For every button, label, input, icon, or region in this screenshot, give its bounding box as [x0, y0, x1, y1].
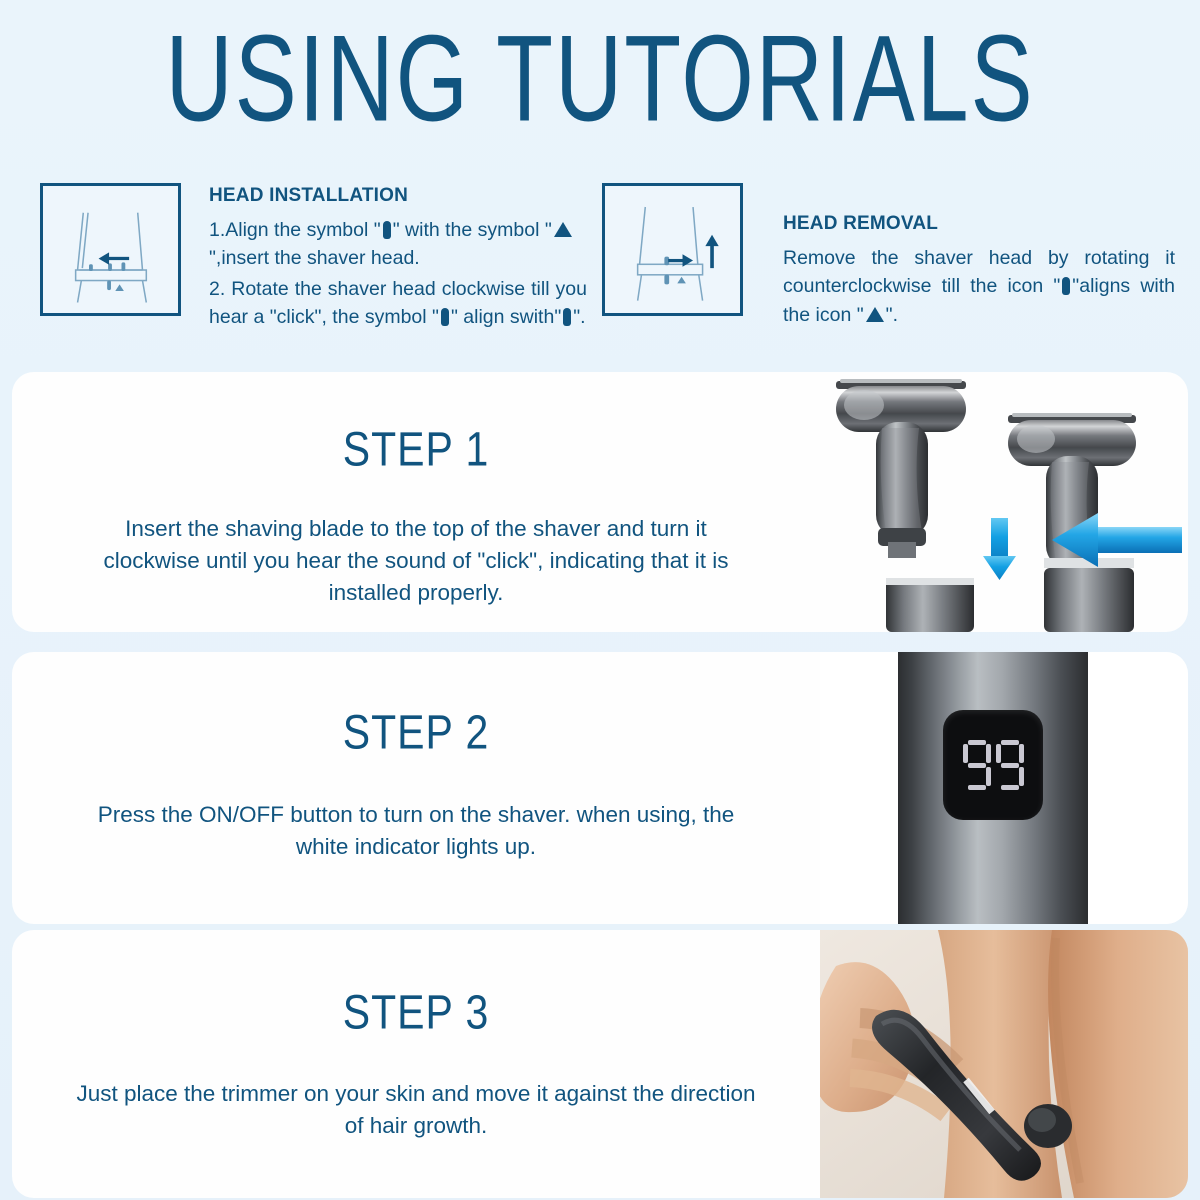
page-title: USING TUTORIALS	[165, 18, 1034, 141]
step-2-media	[820, 652, 1188, 924]
step-2-description: Press the ON/OFF button to turn on the s…	[76, 799, 756, 863]
triangle-symbol-icon	[866, 307, 884, 322]
head-removal-heading: HEAD REMOVAL	[783, 213, 1143, 235]
step-3-title: STEP 3	[343, 985, 490, 1040]
step-3-description: Just place the trimmer on your skin and …	[76, 1078, 756, 1142]
install-step2-part-b: " align swith"	[451, 306, 561, 328]
lcd-digit-1	[963, 740, 991, 790]
head-removal-section: HEAD REMOVAL Remove the shaver head by r…	[600, 183, 1200, 358]
bar-symbol-icon	[383, 221, 391, 239]
step-card-2: STEP 2 Press the ON/OFF button to turn o…	[12, 652, 1188, 924]
step-3-media	[820, 930, 1188, 1198]
head-installation-text: HEAD INSTALLATION 1.Align the symbol "" …	[181, 183, 587, 331]
tutorial-page: USING TUTORIALS	[0, 0, 1200, 1200]
step-2-text: STEP 2 Press the ON/OFF button to turn o…	[12, 652, 820, 924]
install-step1-part-b: " with the symbol "	[393, 219, 552, 241]
shaver-head-attach-illustration	[820, 372, 1188, 632]
removal-part-c: ".	[886, 304, 898, 326]
down-arrow-icon	[983, 518, 1016, 580]
head-removal-body: Remove the shaver head by rotating it co…	[783, 244, 1175, 329]
head-installation-section: HEAD INSTALLATION 1.Align the symbol "" …	[0, 183, 600, 358]
head-installation-step-2: 2. Rotate the shaver head clockwise till…	[209, 275, 587, 332]
lcd-digit-2	[996, 740, 1024, 790]
bar-symbol-icon	[563, 308, 571, 326]
head-installation-heading: HEAD INSTALLATION	[209, 185, 587, 207]
install-step2-part-c: ".	[573, 306, 585, 328]
step-2-title: STEP 2	[343, 705, 490, 760]
info-row: HEAD INSTALLATION 1.Align the symbol "" …	[0, 183, 1200, 358]
step-1-text: STEP 1 Insert the shaving blade to the t…	[12, 372, 820, 632]
bar-symbol-icon	[441, 308, 449, 326]
shaver-in-use-on-leg-photo	[820, 930, 1188, 1198]
step-1-media	[820, 372, 1188, 632]
page-title-wrap: USING TUTORIALS	[0, 0, 1200, 114]
step-card-1: STEP 1 Insert the shaving blade to the t…	[12, 372, 1188, 632]
head-installation-step-1: 1.Align the symbol "" with the symbol ""…	[209, 216, 587, 273]
step-card-3: STEP 3 Just place the trimmer on your sk…	[12, 930, 1188, 1198]
shaver-head-install-diagram-icon	[40, 183, 181, 316]
step-3-text: STEP 3 Just place the trimmer on your sk…	[12, 930, 820, 1198]
install-step1-part-c: ",insert the shaver head.	[209, 247, 420, 269]
shaver-lcd-display-photo	[820, 652, 1188, 924]
head-removal-text: HEAD REMOVAL Remove the shaver head by r…	[743, 183, 1143, 329]
install-step1-part-a: 1.Align the symbol "	[209, 219, 381, 241]
shaver-body	[898, 652, 1088, 924]
triangle-symbol-icon	[554, 222, 572, 237]
step-1-description: Insert the shaving blade to the top of t…	[76, 513, 756, 609]
lcd-display	[943, 710, 1043, 820]
step-1-title: STEP 1	[343, 422, 490, 477]
shaver-head-removal-diagram-icon	[602, 183, 743, 316]
bar-symbol-icon	[1062, 277, 1070, 295]
